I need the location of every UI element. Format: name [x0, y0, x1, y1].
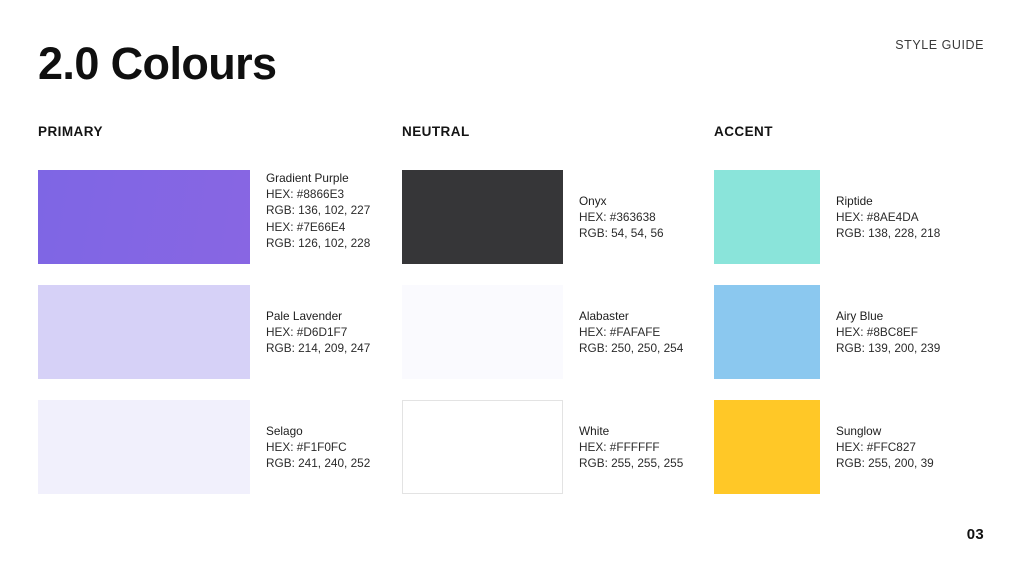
- colour-swatch-alabaster[interactable]: [402, 285, 563, 379]
- swatch-hex: HEX: #FFFFFF: [579, 439, 714, 455]
- swatch-name: Sunglow: [836, 423, 994, 439]
- swatch-name: Airy Blue: [836, 308, 994, 324]
- colour-swatch-gradient-purple[interactable]: [38, 170, 250, 264]
- swatch-rgb: RGB: 241, 240, 252: [266, 455, 394, 471]
- swatch-row: OnyxHEX: #363638RGB: 54, 54, 56: [402, 170, 714, 264]
- swatch-name: Pale Lavender: [266, 308, 394, 324]
- swatch-row: Airy BlueHEX: #8BC8EFRGB: 139, 200, 239: [714, 285, 994, 379]
- swatch-hex: HEX: #F1F0FC: [266, 439, 394, 455]
- swatch-rgb: RGB: 139, 200, 239: [836, 340, 994, 356]
- swatch-name: Riptide: [836, 193, 994, 209]
- colour-columns: PRIMARYGradient PurpleHEX: #8866E3RGB: 1…: [0, 0, 1024, 576]
- swatch-row: RiptideHEX: #8AE4DARGB: 138, 228, 218: [714, 170, 994, 264]
- swatch-rgb: RGB: 250, 250, 254: [579, 340, 714, 356]
- swatch-row: Gradient PurpleHEX: #8866E3RGB: 136, 102…: [38, 170, 394, 264]
- swatch-hex: HEX: #8866E3: [266, 186, 394, 202]
- swatch-name: White: [579, 423, 714, 439]
- colour-swatch-white[interactable]: [402, 400, 563, 494]
- column-header-accent: ACCENT: [714, 124, 994, 140]
- colour-swatch-selago[interactable]: [38, 400, 250, 494]
- swatch-hex: HEX: #8BC8EF: [836, 324, 994, 340]
- colour-swatch-onyx[interactable]: [402, 170, 563, 264]
- swatch-rgb: RGB: 255, 255, 255: [579, 455, 714, 471]
- swatch-name: Selago: [266, 423, 394, 439]
- colour-column-primary: PRIMARYGradient PurpleHEX: #8866E3RGB: 1…: [38, 124, 394, 515]
- colour-swatch-pale-lavender[interactable]: [38, 285, 250, 379]
- swatch-info: AlabasterHEX: #FAFAFERGB: 250, 250, 254: [563, 285, 714, 357]
- swatch-name: Alabaster: [579, 308, 714, 324]
- swatch-hex: HEX: #FFC827: [836, 439, 994, 455]
- swatch-row: WhiteHEX: #FFFFFFRGB: 255, 255, 255: [402, 400, 714, 494]
- swatch-hex: HEX: #FAFAFE: [579, 324, 714, 340]
- swatch-hex: HEX: #7E66E4: [266, 219, 394, 235]
- swatch-rgb: RGB: 136, 102, 227: [266, 202, 394, 218]
- swatch-info: RiptideHEX: #8AE4DARGB: 138, 228, 218: [820, 170, 994, 242]
- swatch-rgb: RGB: 126, 102, 228: [266, 235, 394, 251]
- swatch-info: SelagoHEX: #F1F0FCRGB: 241, 240, 252: [250, 400, 394, 472]
- swatch-hex: HEX: #363638: [579, 209, 714, 225]
- page-number: 03: [967, 526, 984, 543]
- colour-column-neutral: NEUTRALOnyxHEX: #363638RGB: 54, 54, 56Al…: [402, 124, 714, 515]
- swatch-info: Gradient PurpleHEX: #8866E3RGB: 136, 102…: [250, 170, 394, 251]
- swatch-rgb: RGB: 255, 200, 39: [836, 455, 994, 471]
- swatch-row: Pale LavenderHEX: #D6D1F7RGB: 214, 209, …: [38, 285, 394, 379]
- style-guide-slide: STYLE GUIDE 2.0 Colours PRIMARYGradient …: [0, 0, 1024, 576]
- swatch-rgb: RGB: 54, 54, 56: [579, 225, 714, 241]
- swatch-hex: HEX: #8AE4DA: [836, 209, 994, 225]
- column-header-neutral: NEUTRAL: [402, 124, 714, 140]
- swatch-row: SunglowHEX: #FFC827RGB: 255, 200, 39: [714, 400, 994, 494]
- swatch-row: SelagoHEX: #F1F0FCRGB: 241, 240, 252: [38, 400, 394, 494]
- swatch-rgb: RGB: 214, 209, 247: [266, 340, 394, 356]
- swatch-name: Gradient Purple: [266, 170, 394, 186]
- swatch-info: SunglowHEX: #FFC827RGB: 255, 200, 39: [820, 400, 994, 472]
- swatch-row: AlabasterHEX: #FAFAFERGB: 250, 250, 254: [402, 285, 714, 379]
- swatch-info: OnyxHEX: #363638RGB: 54, 54, 56: [563, 170, 714, 242]
- colour-column-accent: ACCENTRiptideHEX: #8AE4DARGB: 138, 228, …: [714, 124, 994, 515]
- swatch-hex: HEX: #D6D1F7: [266, 324, 394, 340]
- column-header-primary: PRIMARY: [38, 124, 394, 140]
- colour-swatch-riptide[interactable]: [714, 170, 820, 264]
- swatch-name: Onyx: [579, 193, 714, 209]
- swatch-info: WhiteHEX: #FFFFFFRGB: 255, 255, 255: [563, 400, 714, 472]
- swatch-rgb: RGB: 138, 228, 218: [836, 225, 994, 241]
- swatch-info: Pale LavenderHEX: #D6D1F7RGB: 214, 209, …: [250, 285, 394, 357]
- swatch-info: Airy BlueHEX: #8BC8EFRGB: 139, 200, 239: [820, 285, 994, 357]
- colour-swatch-sunglow[interactable]: [714, 400, 820, 494]
- colour-swatch-airy-blue[interactable]: [714, 285, 820, 379]
